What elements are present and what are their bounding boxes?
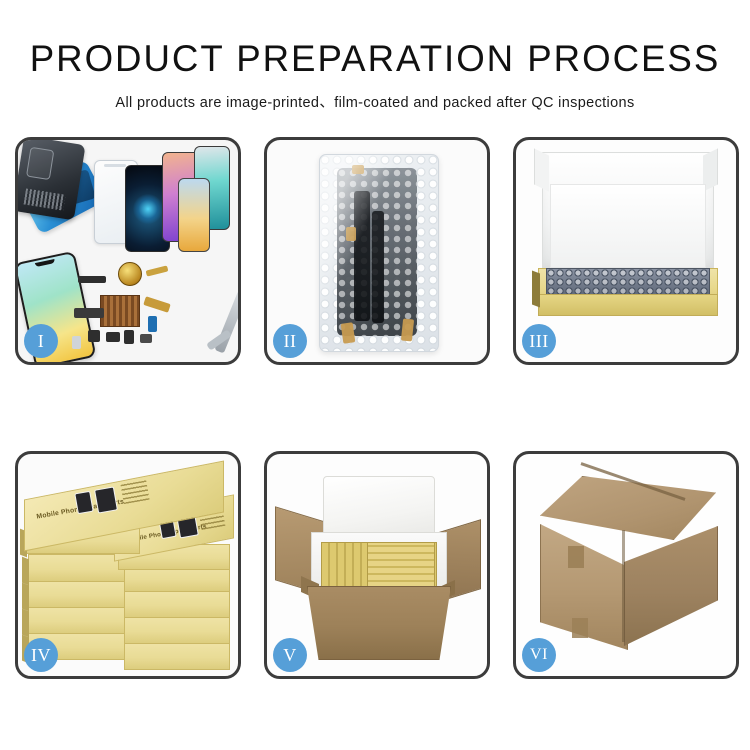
tape-piece-icon bbox=[568, 546, 584, 568]
spare-part-icon bbox=[88, 330, 100, 342]
chip-array-icon bbox=[100, 295, 140, 327]
stacked-box bbox=[124, 590, 230, 618]
spare-part-icon bbox=[148, 316, 157, 332]
carton-top-face bbox=[540, 476, 716, 540]
stacked-box bbox=[124, 642, 230, 670]
spare-part-icon bbox=[146, 265, 169, 276]
process-panel-grid: I II III bbox=[15, 137, 735, 679]
carton-corner-edge bbox=[622, 530, 625, 642]
process-panel-6[interactable]: VI bbox=[513, 451, 739, 679]
speaker-module-icon bbox=[118, 262, 142, 286]
foam-sheet-icon bbox=[550, 184, 706, 268]
spare-part-icon bbox=[72, 336, 81, 349]
spare-part-icon bbox=[124, 330, 134, 344]
phone-back-housing-icon bbox=[18, 140, 86, 220]
page-title: PRODUCT PREPARATION PROCESS bbox=[4, 40, 747, 77]
panel-badge-3: III bbox=[522, 324, 556, 358]
lid-flap-left-icon bbox=[534, 148, 549, 191]
process-panel-3[interactable]: III bbox=[513, 137, 739, 365]
process-panel-2[interactable]: II bbox=[264, 137, 490, 365]
panel-badge-5: V bbox=[273, 638, 307, 672]
page-subtitle: All products are image-printed、film-coat… bbox=[0, 91, 750, 112]
tray-front-wall-icon bbox=[538, 294, 718, 316]
stacked-box bbox=[28, 606, 138, 634]
tray-side-wall-icon bbox=[532, 271, 540, 308]
carton-side-face bbox=[624, 526, 718, 646]
bubble-wrap-bag-icon bbox=[319, 154, 439, 352]
spare-part-icon bbox=[78, 276, 106, 283]
orange-phone-icon bbox=[178, 178, 210, 252]
process-panel-4[interactable]: Mobile Phone Spare Parts Mobile Phone Sp… bbox=[15, 451, 241, 679]
page-header: PRODUCT PREPARATION PROCESS All products… bbox=[0, 0, 750, 112]
stacked-box bbox=[28, 580, 138, 608]
box-screen-image bbox=[94, 486, 118, 513]
spare-part-icon bbox=[106, 332, 120, 342]
spare-part-icon bbox=[74, 308, 104, 318]
spare-part-icon bbox=[143, 296, 171, 313]
plastic-gloss-highlight bbox=[320, 155, 438, 351]
panel-badge-6: VI bbox=[522, 638, 556, 672]
panel-badge-2: II bbox=[273, 324, 307, 358]
process-panel-5[interactable]: V bbox=[264, 451, 490, 679]
box-screen-image bbox=[74, 491, 93, 514]
panel-badge-1: I bbox=[24, 324, 58, 358]
carton-body-icon bbox=[307, 586, 451, 660]
yellow-boxes-icon bbox=[367, 542, 435, 588]
spare-part-icon bbox=[140, 334, 152, 343]
panel-badge-4: IV bbox=[24, 638, 58, 672]
stacked-box bbox=[124, 616, 230, 644]
process-panel-1[interactable]: I bbox=[15, 137, 241, 365]
tape-piece-icon bbox=[572, 618, 588, 638]
